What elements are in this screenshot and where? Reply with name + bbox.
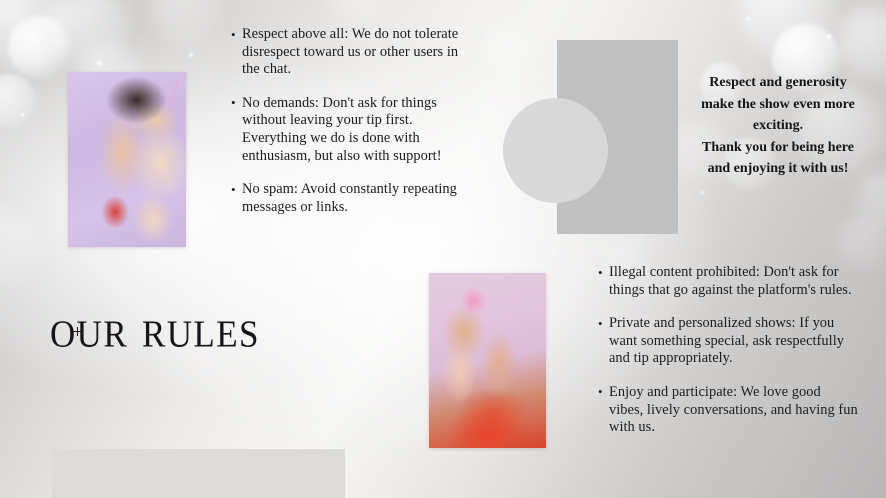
couple-photo-bedroom xyxy=(429,273,546,448)
list-item: Illegal content prohibited: Don't ask fo… xyxy=(598,264,858,299)
thank-you-line: Respect and generosity xyxy=(676,72,880,94)
thank-you-line: Thank you for being here xyxy=(676,137,880,159)
decorative-bottom-bar xyxy=(52,449,345,498)
thank-you-line: exciting. xyxy=(676,115,880,137)
photo-image xyxy=(68,72,186,247)
list-item: Private and personalized shows: If you w… xyxy=(598,315,858,368)
thank-you-line: make the show even more xyxy=(676,94,880,116)
decorative-gray-circle xyxy=(503,98,608,203)
list-item: Respect above all: We do not tolerate di… xyxy=(231,26,479,79)
list-item: No spam: Avoid constantly repeating mess… xyxy=(231,181,479,216)
list-item: No demands: Don't ask for things without… xyxy=(231,95,479,165)
plus-star-ornament-icon xyxy=(73,327,82,336)
couple-photo-lavender xyxy=(68,72,186,247)
thank-you-message: Respect and generosity make the show eve… xyxy=(676,72,880,180)
photo-image xyxy=(429,273,546,448)
page-title: Our Rules xyxy=(50,300,260,356)
rules-list-left: Respect above all: We do not tolerate di… xyxy=(231,26,479,216)
list-item: Enjoy and participate: We love good vibe… xyxy=(598,384,858,437)
slide-canvas: Our Rules Respect above all: We do not t… xyxy=(0,0,886,498)
thank-you-line: and enjoying it with us! xyxy=(676,158,880,180)
rules-list-right: Illegal content prohibited: Don't ask fo… xyxy=(598,264,858,437)
